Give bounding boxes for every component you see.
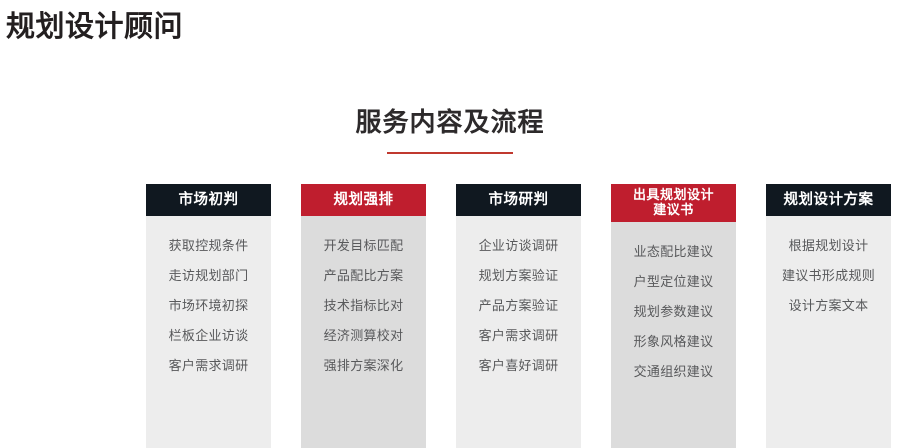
section-heading-underline <box>387 152 513 154</box>
column-item[interactable]: 获取控规条件 <box>146 238 271 255</box>
column-item[interactable]: 规划方案验证 <box>456 268 581 285</box>
process-columns: 市场初判获取控规条件走访规划部门市场环境初探栏板企业访谈客户需求调研规划强排开发… <box>146 184 900 448</box>
column-header[interactable]: 出具规划设计建议书 <box>611 184 736 222</box>
column-item[interactable]: 经济测算校对 <box>301 328 426 345</box>
column-item[interactable]: 开发目标匹配 <box>301 238 426 255</box>
process-column: 出具规划设计建议书业态配比建议户型定位建议规划参数建议形象风格建议交通组织建议 <box>611 184 736 448</box>
column-item[interactable]: 走访规划部门 <box>146 268 271 285</box>
column-item[interactable]: 客户需求调研 <box>146 358 271 375</box>
column-item[interactable]: 设计方案文本 <box>766 298 891 315</box>
process-column: 市场初判获取控规条件走访规划部门市场环境初探栏板企业访谈客户需求调研 <box>146 184 271 448</box>
column-item[interactable]: 规划参数建议 <box>611 304 736 321</box>
column-body: 获取控规条件走访规划部门市场环境初探栏板企业访谈客户需求调研 <box>146 216 271 448</box>
column-item[interactable]: 业态配比建议 <box>611 244 736 261</box>
column-header-line: 出具规划设计 <box>633 188 714 203</box>
column-item[interactable]: 客户喜好调研 <box>456 358 581 375</box>
section-heading: 服务内容及流程 <box>0 104 900 142</box>
section-heading-block: 服务内容及流程 <box>0 104 900 154</box>
column-body: 业态配比建议户型定位建议规划参数建议形象风格建议交通组织建议 <box>611 222 736 448</box>
column-item[interactable]: 客户需求调研 <box>456 328 581 345</box>
column-item[interactable]: 户型定位建议 <box>611 274 736 291</box>
column-header-line: 规划设计方案 <box>784 193 874 208</box>
column-item[interactable]: 根据规划设计 <box>766 238 891 255</box>
column-item[interactable]: 建议书形成规则 <box>766 268 891 285</box>
column-item[interactable]: 强排方案深化 <box>301 358 426 375</box>
column-item[interactable]: 栏板企业访谈 <box>146 328 271 345</box>
process-column: 市场研判企业访谈调研规划方案验证产品方案验证客户需求调研客户喜好调研 <box>456 184 581 448</box>
column-item[interactable]: 产品方案验证 <box>456 298 581 315</box>
page-title: 规划设计顾问 <box>6 6 183 46</box>
column-body: 根据规划设计建议书形成规则设计方案文本 <box>766 216 891 448</box>
column-header-line: 建议书 <box>633 203 714 218</box>
column-header[interactable]: 规划设计方案 <box>766 184 891 216</box>
column-body: 企业访谈调研规划方案验证产品方案验证客户需求调研客户喜好调研 <box>456 216 581 448</box>
column-item[interactable]: 形象风格建议 <box>611 334 736 351</box>
column-item[interactable]: 企业访谈调研 <box>456 238 581 255</box>
column-header[interactable]: 规划强排 <box>301 184 426 216</box>
column-body: 开发目标匹配产品配比方案技术指标比对经济测算校对强排方案深化 <box>301 216 426 448</box>
column-item[interactable]: 市场环境初探 <box>146 298 271 315</box>
column-item[interactable]: 技术指标比对 <box>301 298 426 315</box>
column-header-line: 市场研判 <box>489 193 549 208</box>
column-item[interactable]: 产品配比方案 <box>301 268 426 285</box>
column-item[interactable]: 交通组织建议 <box>611 364 736 381</box>
process-column: 规划设计方案根据规划设计建议书形成规则设计方案文本 <box>766 184 891 448</box>
column-header-line: 市场初判 <box>179 193 239 208</box>
column-header-line: 规划强排 <box>334 193 394 208</box>
process-column: 规划强排开发目标匹配产品配比方案技术指标比对经济测算校对强排方案深化 <box>301 184 426 448</box>
column-header[interactable]: 市场初判 <box>146 184 271 216</box>
column-header[interactable]: 市场研判 <box>456 184 581 216</box>
